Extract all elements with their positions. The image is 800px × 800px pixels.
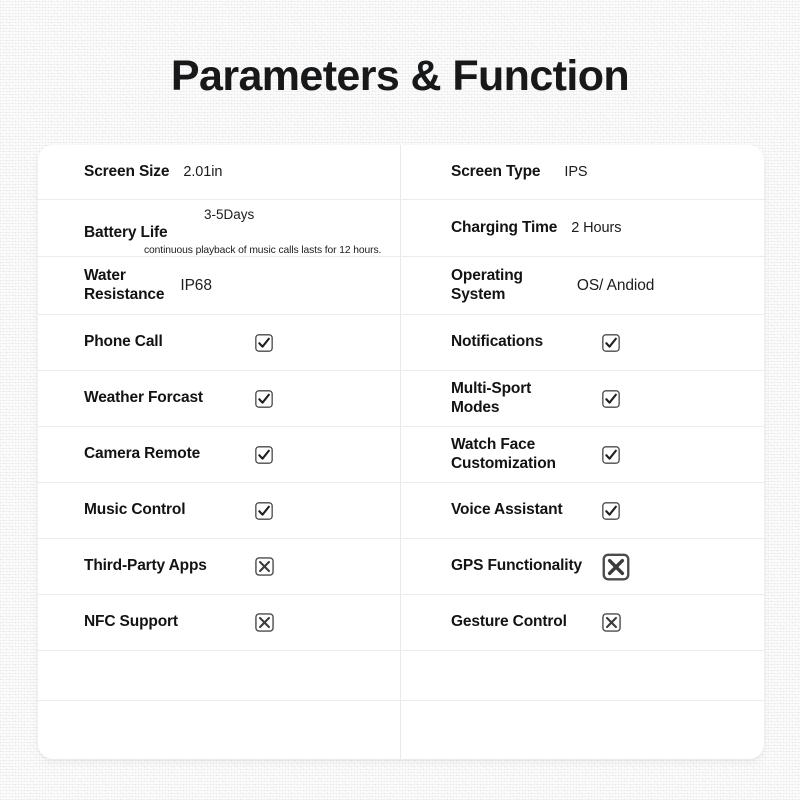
feature-cell: Gesture Control (401, 595, 764, 650)
empty-cell (38, 701, 401, 751)
checkbox-checked-icon[interactable] (601, 333, 621, 353)
feature-cell: GPS Functionality (401, 539, 764, 594)
spec-label: Third-Party Apps (84, 557, 207, 576)
spec-label: Multi-SportModes (451, 380, 531, 418)
spec-label: Watch FaceCustomization (451, 436, 556, 474)
table-row: Screen Size2.01inScreen TypeIPS (38, 145, 764, 200)
checkbox-crossed-icon[interactable] (254, 612, 275, 633)
battery-life-note: continuous playback of music calls lasts… (144, 245, 381, 256)
spec-label: Music Control (84, 501, 185, 520)
checkbox-checked-icon[interactable] (601, 389, 621, 409)
feature-cell: Weather Forcast (38, 371, 401, 426)
spec-cell: OperatingSystemOS/ Andiod (401, 257, 764, 314)
spec-label: Battery Life (84, 224, 167, 242)
feature-cell: Third-Party Apps (38, 539, 401, 594)
spec-label: Notifications (451, 333, 543, 352)
spec-value: 2.01in (183, 164, 222, 180)
spec-label: Phone Call (84, 333, 163, 352)
checkbox-checked-icon[interactable] (254, 445, 274, 465)
checkbox-crossed-icon[interactable] (254, 556, 275, 577)
spec-label: Charging Time (451, 219, 557, 238)
table-row: Third-Party AppsGPS Functionality (38, 539, 764, 595)
empty-cell (401, 651, 764, 700)
spec-label: NFC Support (84, 613, 178, 632)
checkbox-checked-icon[interactable] (601, 445, 621, 465)
spec-value: IP68 (180, 277, 212, 295)
table-row: Phone CallNotifications (38, 315, 764, 371)
spec-label: Weather Forcast (84, 389, 203, 408)
battery-life-value: 3-5Days (204, 207, 254, 222)
spec-label: Screen Size (84, 163, 169, 182)
battery-cell-content: 3-5DaysBattery Lifecontinuous playback o… (84, 200, 391, 256)
specifications-card: Screen Size2.01inScreen TypeIPS3-5DaysBa… (38, 145, 764, 759)
spec-cell: Charging Time2 Hours (401, 200, 764, 256)
spec-label: WaterResistance (84, 267, 164, 305)
spec-label: Voice Assistant (451, 501, 562, 520)
feature-cell: Watch FaceCustomization (401, 427, 764, 482)
spec-cell-battery: 3-5DaysBattery Lifecontinuous playback o… (38, 200, 401, 256)
spec-label: Camera Remote (84, 445, 200, 464)
table-row: NFC SupportGesture Control (38, 595, 764, 651)
checkbox-crossed-icon[interactable] (601, 552, 631, 582)
empty-cell (38, 651, 401, 700)
feature-cell: NFC Support (38, 595, 401, 650)
table-row: Music ControlVoice Assistant (38, 483, 764, 539)
feature-cell: Multi-SportModes (401, 371, 764, 426)
checkbox-checked-icon[interactable] (254, 333, 274, 353)
feature-cell: Notifications (401, 315, 764, 370)
table-row-empty (38, 701, 764, 751)
spec-value: IPS (564, 164, 587, 180)
spec-label: GPS Functionality (451, 557, 582, 576)
spec-cell: Screen Size2.01in (38, 145, 401, 199)
feature-cell: Camera Remote (38, 427, 401, 482)
spec-value: OS/ Andiod (577, 277, 654, 295)
feature-cell: Music Control (38, 483, 401, 538)
checkbox-checked-icon[interactable] (601, 501, 621, 521)
table-row-empty (38, 651, 764, 701)
feature-cell: Phone Call (38, 315, 401, 370)
checkbox-checked-icon[interactable] (254, 389, 274, 409)
table-row: Camera RemoteWatch FaceCustomization (38, 427, 764, 483)
spec-table: Screen Size2.01inScreen TypeIPS3-5DaysBa… (38, 145, 764, 751)
spec-label: Gesture Control (451, 613, 567, 632)
spec-value: 2 Hours (571, 220, 621, 236)
spec-label: Screen Type (451, 163, 540, 182)
spec-cell: Screen TypeIPS (401, 145, 764, 199)
feature-cell: Voice Assistant (401, 483, 764, 538)
spec-label: OperatingSystem (451, 267, 523, 305)
empty-cell (401, 701, 764, 751)
table-row: Weather ForcastMulti-SportModes (38, 371, 764, 427)
page-root: Parameters & Function Screen Size2.01inS… (0, 0, 800, 800)
checkbox-crossed-icon[interactable] (601, 612, 622, 633)
spec-cell: WaterResistanceIP68 (38, 257, 401, 314)
table-row: 3-5DaysBattery Lifecontinuous playback o… (38, 200, 764, 257)
table-row: WaterResistanceIP68OperatingSystemOS/ An… (38, 257, 764, 315)
checkbox-checked-icon[interactable] (254, 501, 274, 521)
page-title: Parameters & Function (0, 52, 800, 101)
